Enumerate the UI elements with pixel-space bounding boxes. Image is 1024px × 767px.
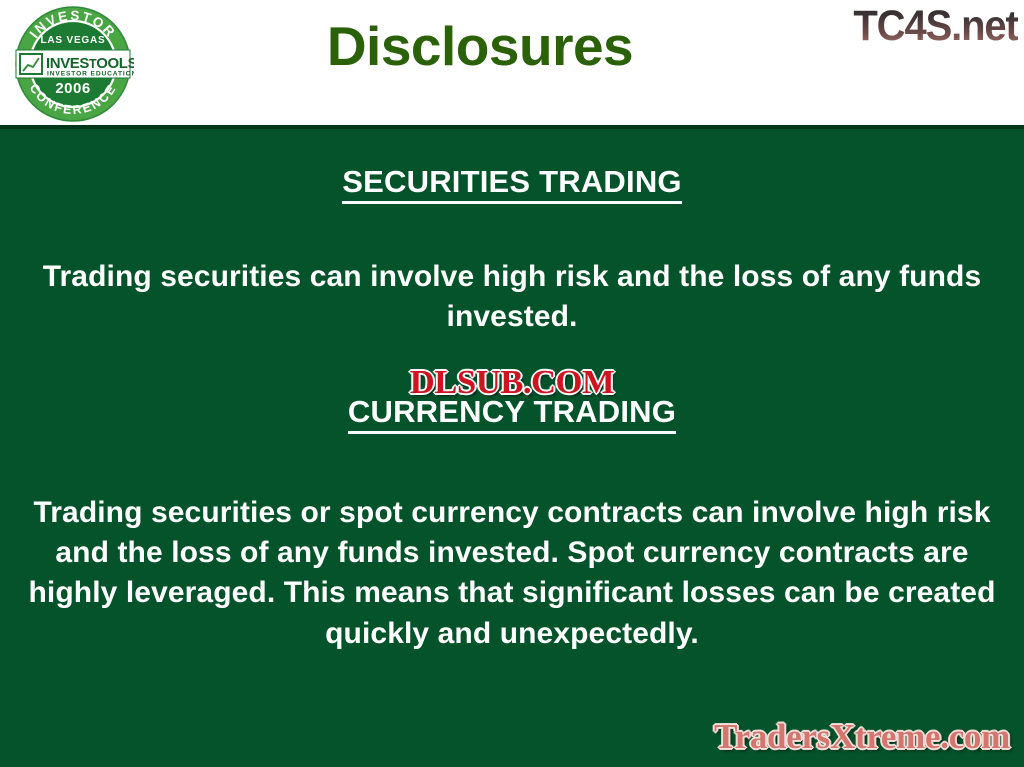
- page-title: Disclosures: [160, 18, 800, 76]
- svg-text:LAS VEGAS: LAS VEGAS: [41, 35, 106, 46]
- section-heading-currency-trading-text: CURRENCY TRADING: [348, 394, 676, 434]
- section-body-currency-trading: Trading securities or spot currency cont…: [24, 493, 1000, 654]
- disclosures-slide: INVESTOR CONFERENCE LAS VEGAS INVESTOOLS…: [0, 0, 1024, 767]
- slide-header-band: INVESTOR CONFERENCE LAS VEGAS INVESTOOLS…: [0, 0, 1024, 125]
- section-heading-currency-trading: CURRENCY TRADING: [0, 394, 1024, 430]
- section-heading-securities-trading-text: SECURITIES TRADING: [342, 164, 681, 204]
- svg-text:INVESTOR EDUCATION: INVESTOR EDUCATION: [47, 71, 134, 78]
- svg-text:2006: 2006: [55, 80, 90, 97]
- slide-body-panel: SECURITIES TRADING Trading securities ca…: [0, 125, 1024, 767]
- tradersxtreme-watermark: TradersXtreme.com: [714, 717, 1010, 757]
- svg-text:INVESTOOLS®: INVESTOOLS®: [46, 55, 134, 72]
- section-heading-securities-trading: SECURITIES TRADING: [0, 164, 1024, 200]
- section-body-securities-trading: Trading securities can involve high risk…: [40, 257, 984, 337]
- tc4s-watermark: TC4S.net: [854, 2, 1018, 51]
- investools-conference-logo: INVESTOR CONFERENCE LAS VEGAS INVESTOOLS…: [12, 3, 134, 123]
